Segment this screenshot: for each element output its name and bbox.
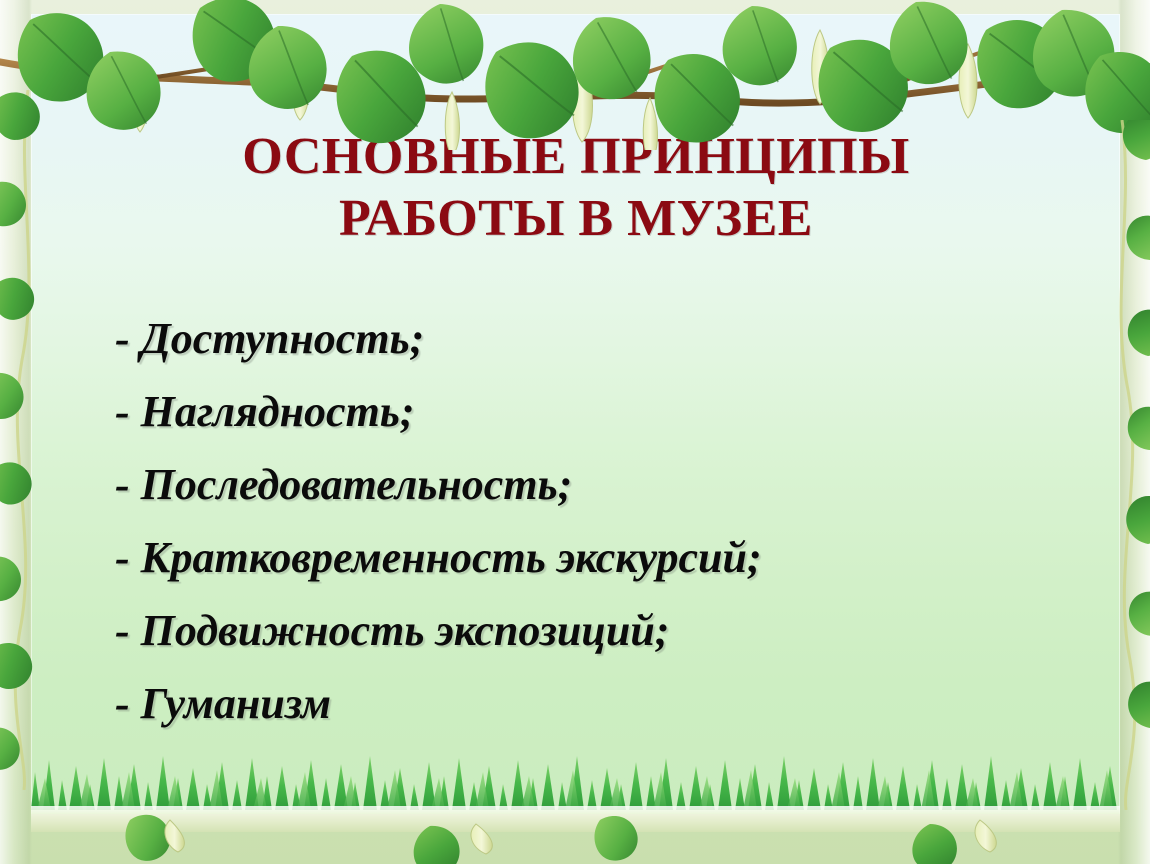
list-item-marker: -	[115, 460, 130, 509]
leaf-vine-icon	[1086, 120, 1150, 810]
list-item: - Подвижность экспозиций;	[115, 594, 1075, 667]
list-item: - Наглядность;	[115, 375, 1075, 448]
list-item: - Доступность;	[115, 302, 1075, 375]
birch-leaves-icon	[0, 0, 1150, 150]
list-item-label: Кратковременность экскурсий;	[141, 533, 762, 582]
title-line-2: РАБОТЫ В МУЗЕЕ	[91, 188, 1061, 250]
list-item: - Последовательность;	[115, 448, 1075, 521]
leaf-vine-icon	[0, 90, 64, 790]
leaf-scatter-icon	[0, 790, 1150, 864]
birch-branch-top-decoration	[0, 0, 1150, 150]
list-item-label: Гуманизм	[141, 679, 331, 728]
birch-leaves-right-decoration	[1086, 120, 1150, 810]
list-item-label: Подвижность экспозиций;	[141, 606, 670, 655]
list-item-label: Доступность;	[141, 314, 425, 363]
list-item-marker: -	[115, 679, 130, 728]
list-item-marker: -	[115, 606, 130, 655]
list-item: - Кратковременность экскурсий;	[115, 521, 1075, 594]
list-item-label: Наглядность;	[141, 387, 415, 436]
principles-list: - Доступность; - Наглядность; - Последов…	[115, 302, 1075, 740]
list-item-marker: -	[115, 533, 130, 582]
birch-leaves-bottom-decoration	[0, 790, 1150, 864]
list-item-marker: -	[115, 387, 130, 436]
birch-leaves-left-decoration	[0, 90, 64, 790]
presentation-slide: ОСНОВНЫЕ ПРИНЦИПЫ РАБОТЫ В МУЗЕЕ - Досту…	[0, 0, 1150, 864]
list-item-marker: -	[115, 314, 130, 363]
list-item: - Гуманизм	[115, 667, 1075, 740]
list-item-label: Последовательность;	[141, 460, 573, 509]
